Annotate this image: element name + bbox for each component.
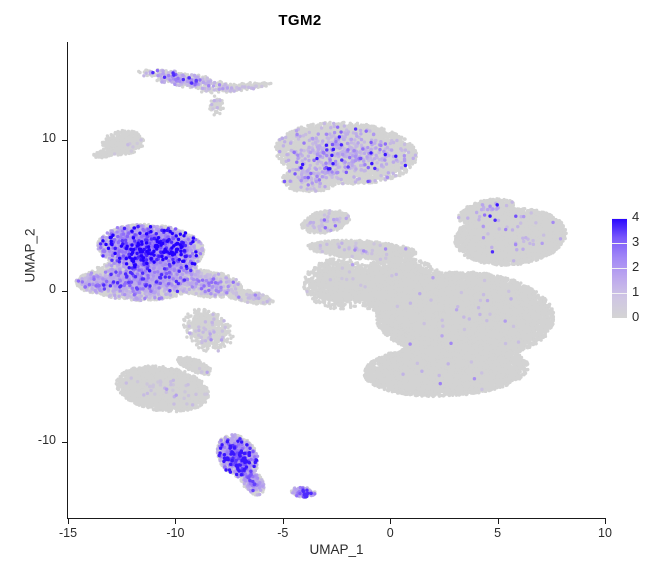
legend-tick-label: 1	[632, 284, 639, 299]
y-axis-label: UMAP_2	[23, 196, 38, 316]
x-tick-label: 0	[370, 526, 410, 540]
x-tick-label: -15	[48, 526, 88, 540]
plot-panel	[68, 42, 605, 518]
x-axis-line	[67, 518, 606, 519]
x-tick-mark	[498, 519, 499, 524]
x-tick-label: 10	[585, 526, 625, 540]
legend-tick-label: 0	[632, 309, 639, 324]
y-tick-mark	[62, 442, 67, 443]
legend-tick-label: 3	[632, 234, 639, 249]
umap-feature-plot: TGM2 -15-10-50510 100-10 UMAP_1 UMAP_2 0…	[0, 0, 672, 576]
legend-tick-mark	[612, 293, 627, 294]
legend-tick-mark	[612, 268, 627, 269]
x-tick-mark	[68, 519, 69, 524]
x-tick-label: 5	[478, 526, 518, 540]
legend-tick-label: 4	[632, 209, 639, 224]
y-tick-label: -10	[0, 433, 56, 447]
legend-tick-mark	[612, 218, 627, 219]
y-axis-line	[67, 42, 68, 519]
legend-tick-mark	[612, 243, 627, 244]
color-legend: 01234	[612, 218, 668, 328]
x-tick-mark	[390, 519, 391, 524]
y-tick-mark	[62, 140, 67, 141]
x-tick-label: -5	[263, 526, 303, 540]
legend-tick-label: 2	[632, 259, 639, 274]
y-tick-mark	[62, 291, 67, 292]
page-title: TGM2	[0, 12, 600, 29]
x-tick-mark	[605, 519, 606, 524]
x-tick-mark	[175, 519, 176, 524]
x-tick-mark	[283, 519, 284, 524]
scatter-points-canvas	[68, 42, 605, 518]
x-tick-label: -10	[155, 526, 195, 540]
y-tick-label: 10	[0, 131, 56, 145]
x-axis-label: UMAP_1	[68, 542, 605, 557]
